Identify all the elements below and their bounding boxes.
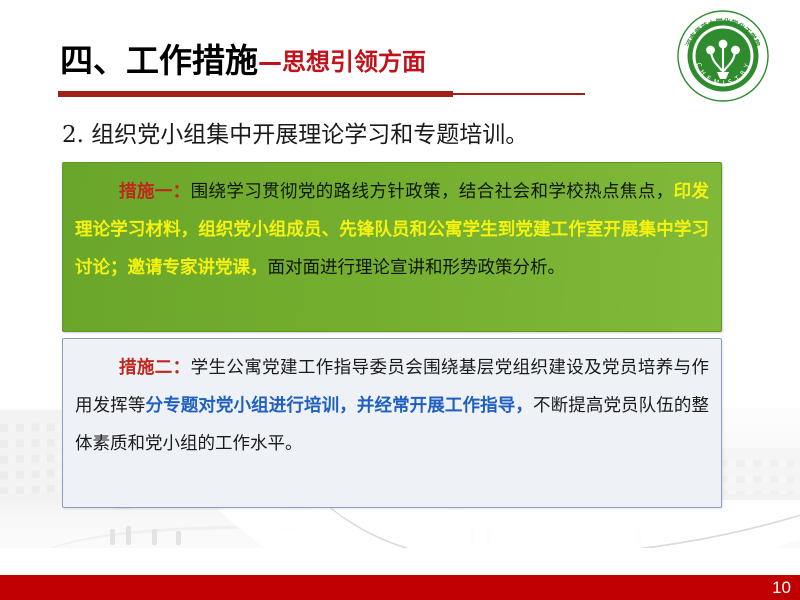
measure-one-text: 措施一：围绕学习贯彻党的路线方针政策，结合社会和学校热点焦点，印发理论学习材料，… xyxy=(75,173,709,287)
page-title-main: 四、工作措施 xyxy=(60,41,258,80)
page-title-subtitle: —思想引领方面 xyxy=(258,48,426,76)
measure-one-segment-plain-1: 围绕学习贯彻党的路线方针政策，结合社会和学校热点焦点， xyxy=(191,182,674,202)
photo-pedestrian xyxy=(176,531,181,545)
page-title: 四、工作措施—思想引领方面 xyxy=(60,44,426,77)
measure-one-segment-plain-2: 面对面进行理论宣讲和形势政策分析。 xyxy=(268,258,566,278)
photo-pedestrian xyxy=(470,527,475,545)
photo-pedestrian xyxy=(636,530,641,545)
photo-pedestrian xyxy=(486,529,491,545)
title-underline-thick xyxy=(58,91,453,97)
photo-pedestrian xyxy=(152,529,157,545)
university-logo: 河南师范大学化学化工学院 C H E M I S T R Y xyxy=(677,10,769,102)
measure-one-tag: 措施一： xyxy=(119,182,191,202)
measure-two-segment-highlight: 分专题对党小组进行培训，并经常开展工作指导， xyxy=(145,396,533,416)
photo-pedestrian xyxy=(110,529,115,545)
title-underline-thin xyxy=(453,93,585,95)
slide-canvas: 10 河南师范大学化学化工学院 xyxy=(0,0,800,600)
footer-red-bar xyxy=(0,575,800,600)
section-subheading: 2. 组织党小组集中开展理论学习和专题培训。 xyxy=(62,115,528,149)
measure-one-box: 措施一：围绕学习贯彻党的路线方针政策，结合社会和学校热点焦点，印发理论学习材料，… xyxy=(62,162,722,332)
measure-two-tag: 措施二： xyxy=(119,358,191,378)
measure-two-text: 措施二：学生公寓党建工作指导委员会围绕基层党组织建设及党员培养与作用发挥等分专题… xyxy=(75,349,709,463)
page-number: 10 xyxy=(772,577,791,599)
measure-two-box: 措施二：学生公寓党建工作指导委员会围绕基层党组织建设及党员培养与作用发挥等分专题… xyxy=(62,338,722,508)
photo-pedestrian xyxy=(126,526,131,545)
